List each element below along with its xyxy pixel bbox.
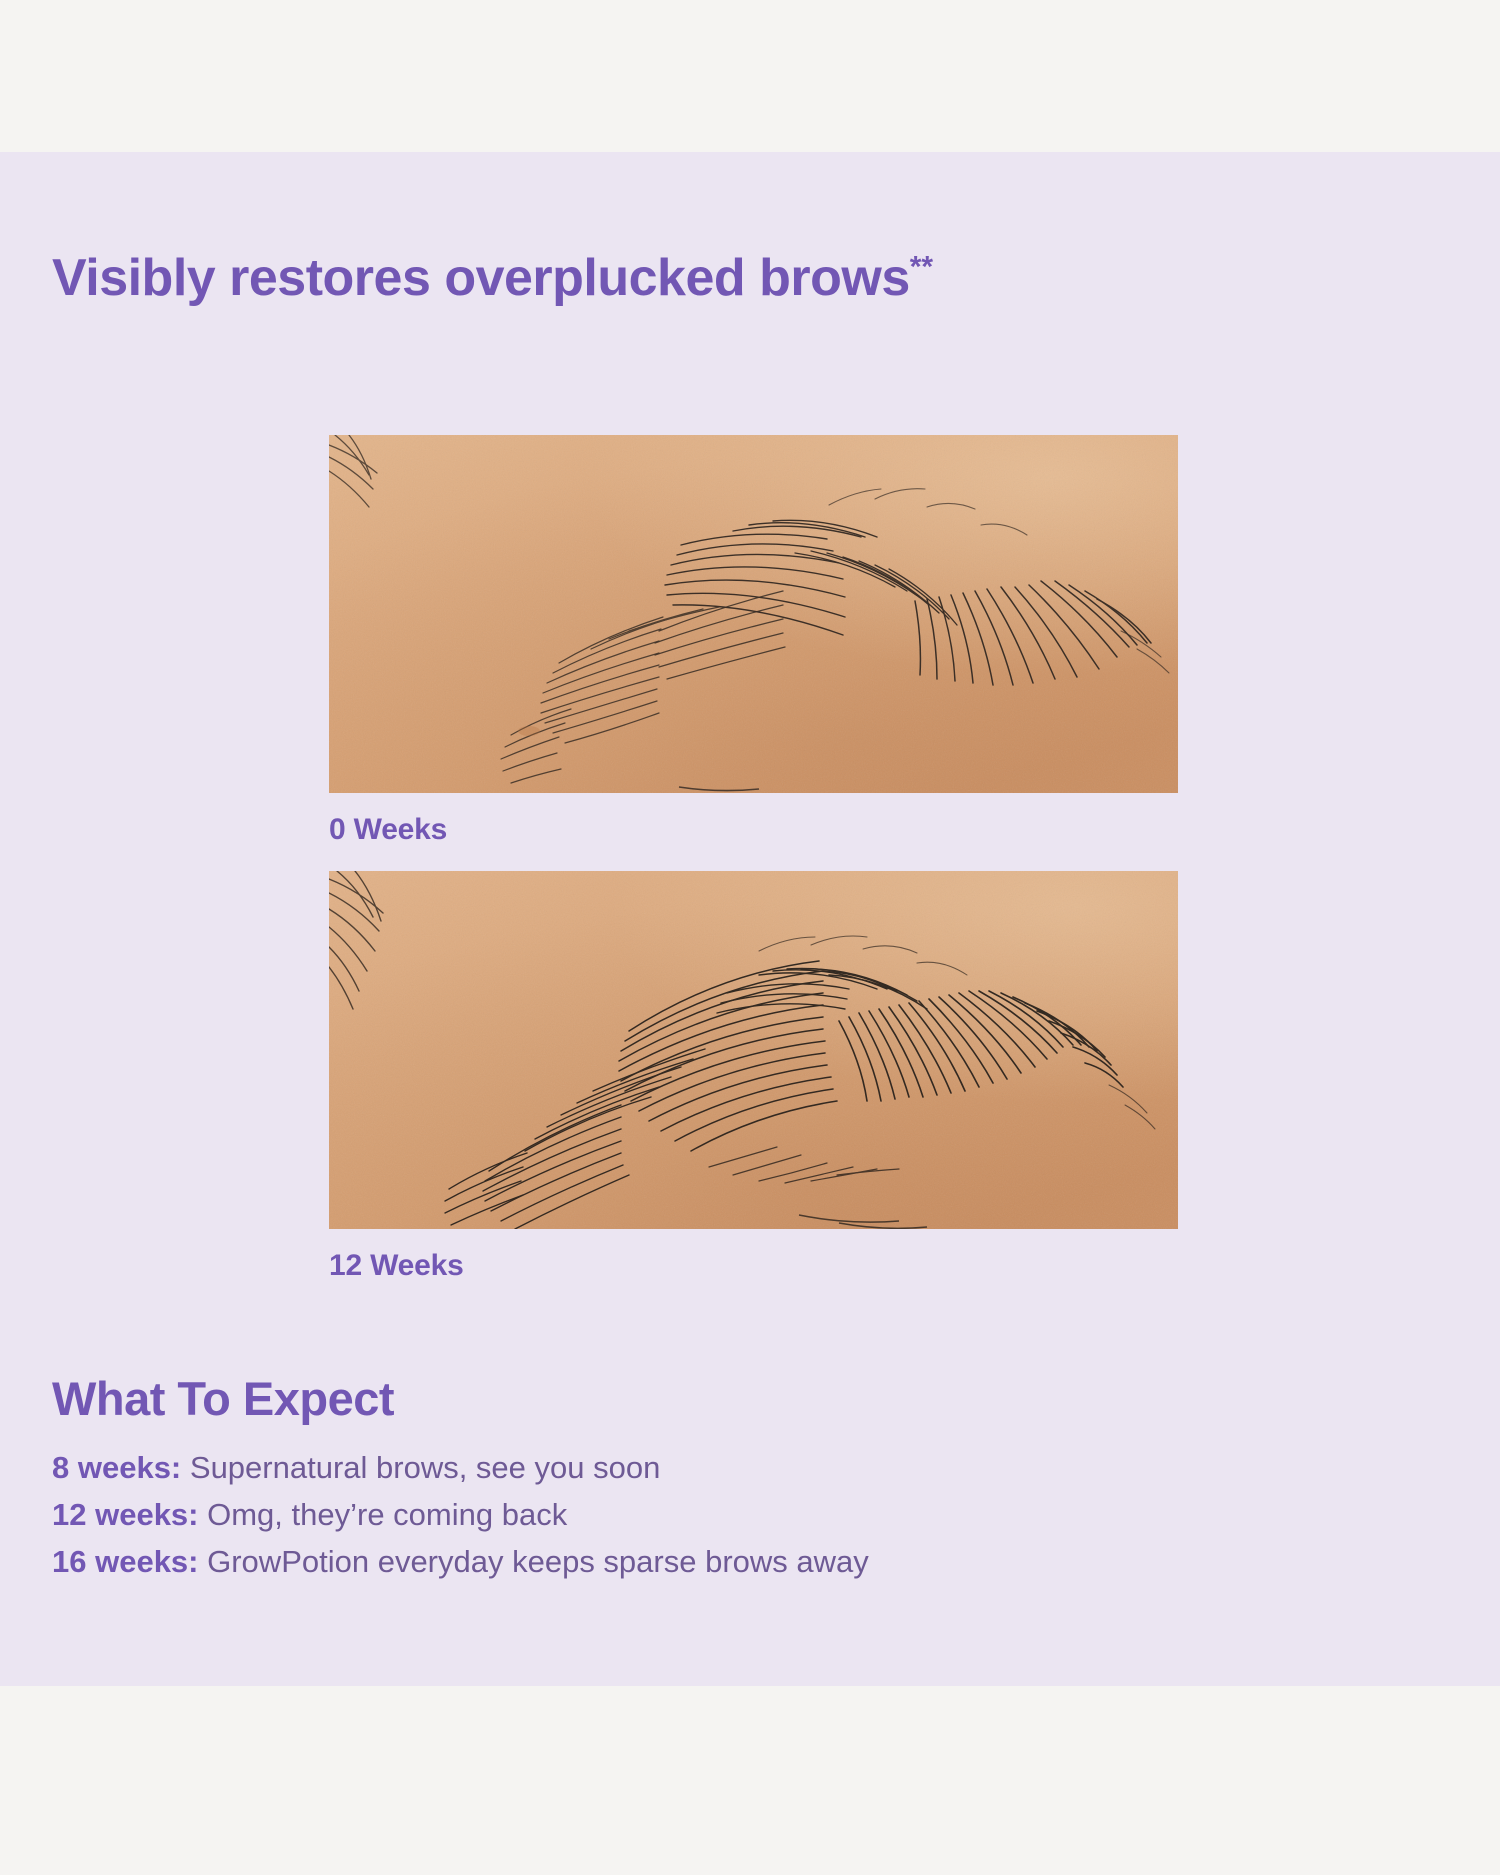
expect-row: 12 weeks: Omg, they’re coming back [52,1491,1252,1538]
page-title-text: Visibly restores overplucked brows [52,249,910,307]
expect-row-label: 12 weeks: [52,1497,199,1532]
expect-row-description: Supernatural brows, see you soon [190,1450,660,1485]
page-title: Visibly restores overplucked brows** [52,252,933,304]
expect-row: 8 weeks: Supernatural brows, see you soo… [52,1444,1252,1491]
after-photo-caption: 12 Weeks [329,1251,1178,1281]
after-photo-block: 12 Weeks [329,871,1178,1281]
expect-row-description: Omg, they’re coming back [207,1497,567,1532]
before-photo-caption: 0 Weeks [329,815,1178,845]
expect-row: 16 weeks: GrowPotion everyday keeps spar… [52,1538,1252,1585]
after-brow-photo [329,871,1178,1229]
what-to-expect-section: What To Expect 8 weeks: Supernatural bro… [52,1375,1252,1585]
expect-row-label: 8 weeks: [52,1450,181,1485]
expect-row-description: GrowPotion everyday keeps sparse brows a… [207,1544,869,1579]
footnote-marker: ** [910,251,933,284]
what-to-expect-title: What To Expect [52,1375,1252,1422]
expect-row-label: 16 weeks: [52,1544,199,1579]
product-claim-graphic: Visibly restores overplucked brows** [0,0,1500,1875]
before-photo-block: 0 Weeks [329,435,1178,845]
before-brow-photo [329,435,1178,793]
